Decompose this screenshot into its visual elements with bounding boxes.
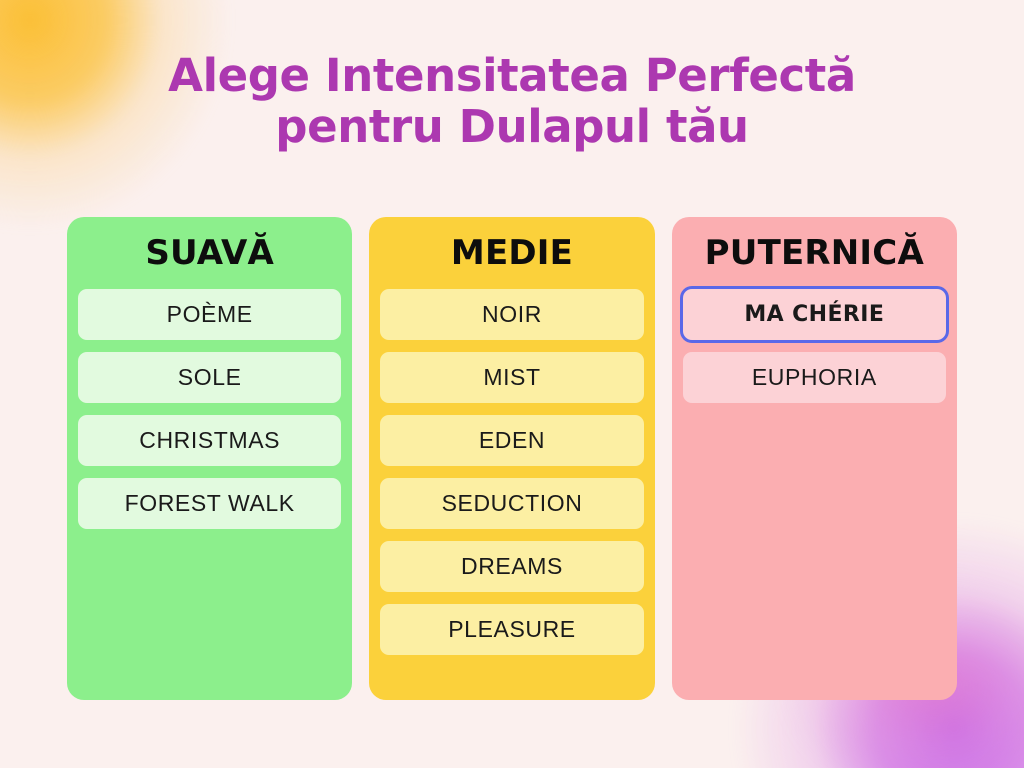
card-title-medie: MEDIE xyxy=(380,231,643,275)
card-title-suava: SUAVĂ xyxy=(78,231,341,275)
fragrance-item[interactable]: MIST xyxy=(380,352,643,403)
fragrance-item[interactable]: EDEN xyxy=(380,415,643,466)
page-root: Alege Intensitatea Perfectă pentru Dulap… xyxy=(0,0,1024,768)
card-title-puternica: PUTERNICĂ xyxy=(683,231,946,275)
fragrance-item[interactable]: NOIR xyxy=(380,289,643,340)
fragrance-item[interactable]: SOLE xyxy=(78,352,341,403)
intensity-card-medie: MEDIENOIRMISTEDENSEDUCTIONDREAMSPLEASURE xyxy=(369,217,654,700)
fragrance-item[interactable]: PLEASURE xyxy=(380,604,643,655)
fragrance-item[interactable]: DREAMS xyxy=(380,541,643,592)
item-list-suava: POÈMESOLECHRISTMASFOREST WALK xyxy=(78,289,341,529)
fragrance-item[interactable]: CHRISTMAS xyxy=(78,415,341,466)
fragrance-item[interactable]: POÈME xyxy=(78,289,341,340)
fragrance-item[interactable]: EUPHORIA xyxy=(683,352,946,403)
item-list-puternica: MA CHÉRIEEUPHORIA xyxy=(683,289,946,403)
fragrance-item-selected[interactable]: MA CHÉRIE xyxy=(683,289,946,340)
intensity-card-suava: SUAVĂPOÈMESOLECHRISTMASFOREST WALK xyxy=(67,217,352,700)
fragrance-item[interactable]: SEDUCTION xyxy=(380,478,643,529)
page-title: Alege Intensitatea Perfectă pentru Dulap… xyxy=(0,50,1024,152)
page-title-line-2: pentru Dulapul tău xyxy=(0,101,1024,152)
intensity-columns: SUAVĂPOÈMESOLECHRISTMASFOREST WALKMEDIEN… xyxy=(67,217,957,700)
intensity-card-puternica: PUTERNICĂMA CHÉRIEEUPHORIA xyxy=(672,217,957,700)
item-list-medie: NOIRMISTEDENSEDUCTIONDREAMSPLEASURE xyxy=(380,289,643,655)
page-title-line-1: Alege Intensitatea Perfectă xyxy=(0,50,1024,101)
fragrance-item[interactable]: FOREST WALK xyxy=(78,478,341,529)
